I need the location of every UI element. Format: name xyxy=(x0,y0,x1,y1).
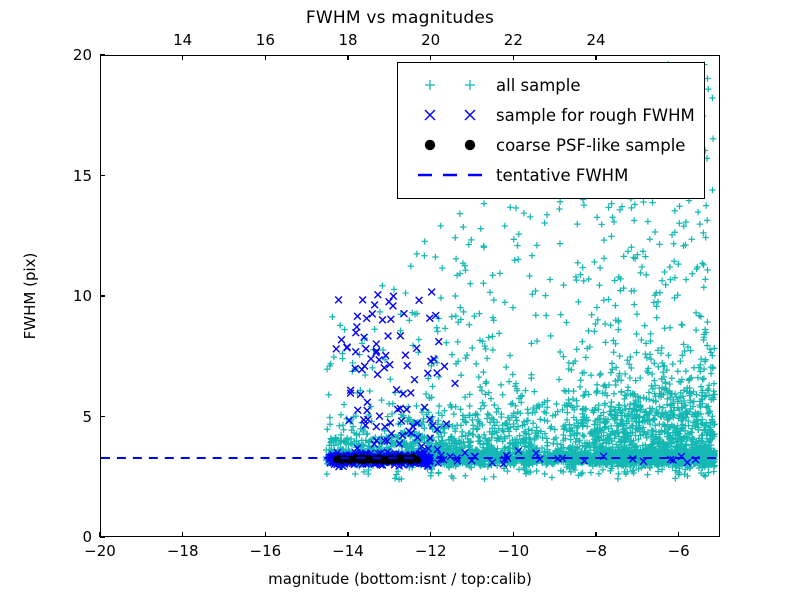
x-tick-label-bottom: −10 xyxy=(498,542,530,560)
legend-marker-cross-icon xyxy=(408,102,494,128)
y-tick-label: 10 xyxy=(73,287,92,305)
legend-label: tentative FWHM xyxy=(494,166,628,185)
x-tick-top xyxy=(595,55,596,60)
legend-entry[interactable]: all sample xyxy=(408,70,694,100)
legend-label: coarse PSF-like sample xyxy=(494,136,685,155)
y-tick-label: 5 xyxy=(82,408,92,426)
x-tick-bottom xyxy=(430,532,431,537)
x-tick-label-top: 20 xyxy=(421,31,440,49)
x-tick-bottom xyxy=(595,532,596,537)
x-tick-top xyxy=(513,55,514,60)
x-tick-label-top: 22 xyxy=(504,31,523,49)
chart-title: FWHM vs magnitudes xyxy=(0,8,800,28)
y-tick xyxy=(100,54,105,55)
x-tick-top xyxy=(182,55,183,60)
legend-entry[interactable]: tentative FWHM xyxy=(408,160,694,190)
x-tick-label-bottom: −6 xyxy=(668,542,690,560)
x-tick-bottom xyxy=(513,532,514,537)
legend-label: sample for rough FWHM xyxy=(494,106,695,125)
x-tick-bottom xyxy=(347,532,348,537)
x-tick-top xyxy=(265,55,266,60)
y-tick xyxy=(100,175,105,176)
y-tick-label: 20 xyxy=(73,46,92,64)
x-axis-label: magnitude (bottom:isnt / top:calib) xyxy=(0,570,800,588)
legend-box: all samplesample for rough FWHMcoarse PS… xyxy=(397,62,705,199)
x-tick-label-bottom: −16 xyxy=(250,542,282,560)
legend-marker-plus-icon xyxy=(408,72,494,98)
x-tick-bottom xyxy=(678,532,679,537)
y-tick xyxy=(100,416,105,417)
legend-entry[interactable]: coarse PSF-like sample xyxy=(408,130,694,160)
x-tick-label-bottom: −18 xyxy=(167,542,199,560)
y-axis-label: FWHM (pix) xyxy=(21,253,39,340)
x-tick-label-top: 16 xyxy=(256,31,275,49)
y-tick-label: 15 xyxy=(73,167,92,185)
x-tick-label-top: 24 xyxy=(586,31,605,49)
y-tick xyxy=(100,295,105,296)
x-tick-label-bottom: −12 xyxy=(415,542,447,560)
x-tick-label-top: 14 xyxy=(173,31,192,49)
y-tick xyxy=(100,536,105,537)
x-tick-bottom xyxy=(182,532,183,537)
legend-entry[interactable]: sample for rough FWHM xyxy=(408,100,694,130)
figure-canvas: FWHM vs magnitudes −20−18−16−14−12−10−8−… xyxy=(0,0,800,600)
legend-marker-dashed-icon xyxy=(408,162,494,188)
x-tick-label-top: 18 xyxy=(338,31,357,49)
x-tick-label-bottom: −8 xyxy=(585,542,607,560)
x-tick-label-bottom: −14 xyxy=(332,542,364,560)
legend-marker-dot-icon xyxy=(408,132,494,158)
legend-label: all sample xyxy=(494,76,581,95)
x-tick-top xyxy=(430,55,431,60)
y-tick-label: 0 xyxy=(82,528,92,546)
x-tick-top xyxy=(347,55,348,60)
x-tick-bottom xyxy=(265,532,266,537)
